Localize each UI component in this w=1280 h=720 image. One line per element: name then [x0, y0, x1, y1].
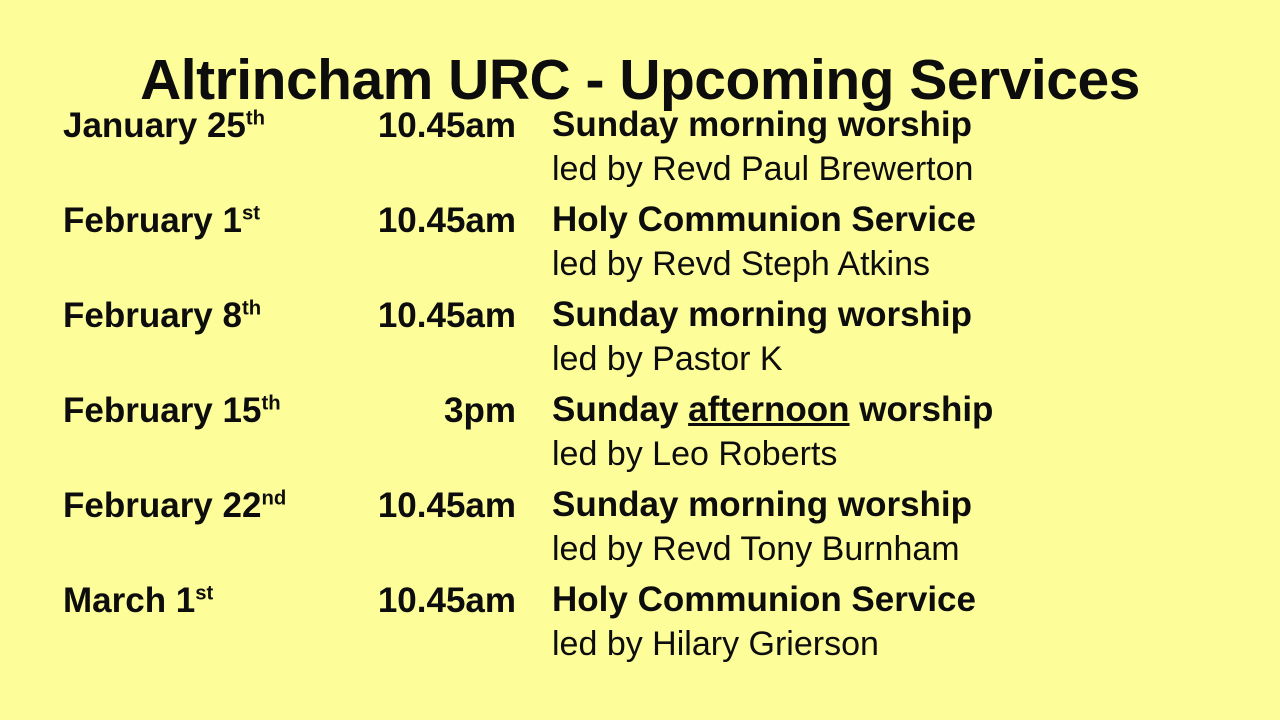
list-item: March 1st 10.45am Holy Communion Service… — [63, 578, 1243, 673]
service-date: March 1st — [63, 578, 363, 623]
service-time: 10.45am — [363, 293, 516, 338]
service-leader: led by Leo Roberts — [552, 433, 1243, 475]
service-date-day: February 1 — [63, 201, 242, 240]
service-title-pre: Sunday — [552, 485, 688, 524]
service-title-post: morning worship — [688, 295, 972, 334]
service-leader: led by Revd Tony Burnham — [552, 528, 1243, 570]
service-leader: led by Revd Steph Atkins — [552, 243, 1243, 285]
service-date-ordinal: st — [195, 582, 213, 604]
service-title: Sunday afternoon worship — [552, 388, 1243, 431]
service-date-day: February 15 — [63, 391, 261, 430]
service-description: Sunday afternoon worship led by Leo Robe… — [516, 388, 1243, 476]
service-title-post: worship — [850, 390, 994, 429]
service-leader: led by Pastor K — [552, 338, 1243, 380]
service-time: 10.45am — [363, 578, 516, 623]
list-item: February 15th 3pm Sunday afternoon worsh… — [63, 388, 1243, 483]
service-date-ordinal: st — [242, 202, 260, 224]
service-title: Sunday morning worship — [552, 483, 1243, 526]
service-description: Holy Communion Service led by Hilary Gri… — [516, 578, 1243, 666]
service-time: 3pm — [363, 388, 516, 433]
service-date: February 1st — [63, 198, 363, 243]
service-leader: led by Revd Paul Brewerton — [552, 148, 1243, 190]
service-title-pre: Sunday — [552, 295, 688, 334]
service-date-day: February 8 — [63, 296, 242, 335]
service-title: Sunday morning worship — [552, 293, 1243, 336]
slide-canvas: Altrincham URC - Upcoming Services Janua… — [0, 0, 1280, 720]
service-description: Sunday morning worship led by Revd Paul … — [516, 103, 1243, 191]
service-title-post: morning worship — [688, 105, 972, 144]
service-leader: led by Hilary Grierson — [552, 623, 1243, 665]
service-date-ordinal: th — [261, 392, 280, 414]
service-date: January 25th — [63, 103, 363, 148]
service-date-day: January 25 — [63, 106, 246, 145]
service-title-pre: Sunday — [552, 105, 688, 144]
service-title-pre: Holy Communion Service — [552, 200, 976, 239]
service-time: 10.45am — [363, 103, 516, 148]
service-title: Sunday morning worship — [552, 103, 1243, 146]
services-list: January 25th 10.45am Sunday morning wors… — [63, 103, 1243, 673]
service-description: Holy Communion Service led by Revd Steph… — [516, 198, 1243, 286]
service-date-ordinal: th — [246, 107, 265, 129]
service-title-pre: Holy Communion Service — [552, 580, 976, 619]
list-item: February 1st 10.45am Holy Communion Serv… — [63, 198, 1243, 293]
service-date-ordinal: th — [242, 297, 261, 319]
list-item: January 25th 10.45am Sunday morning wors… — [63, 103, 1243, 198]
service-title-post: morning worship — [688, 485, 972, 524]
list-item: February 22nd 10.45am Sunday morning wor… — [63, 483, 1243, 578]
service-date-day: March 1 — [63, 581, 195, 620]
service-title-pre: Sunday — [552, 390, 688, 429]
list-item: February 8th 10.45am Sunday morning wors… — [63, 293, 1243, 388]
service-date-day: February 22 — [63, 486, 261, 525]
service-date: February 22nd — [63, 483, 363, 528]
service-title: Holy Communion Service — [552, 198, 1243, 241]
service-description: Sunday morning worship led by Revd Tony … — [516, 483, 1243, 571]
service-date: February 8th — [63, 293, 363, 338]
service-time: 10.45am — [363, 483, 516, 528]
service-time: 10.45am — [363, 198, 516, 243]
service-date: February 15th — [63, 388, 363, 433]
service-title-emphasis: afternoon — [688, 390, 849, 429]
service-date-ordinal: nd — [261, 487, 286, 509]
service-description: Sunday morning worship led by Pastor K — [516, 293, 1243, 381]
service-title: Holy Communion Service — [552, 578, 1243, 621]
